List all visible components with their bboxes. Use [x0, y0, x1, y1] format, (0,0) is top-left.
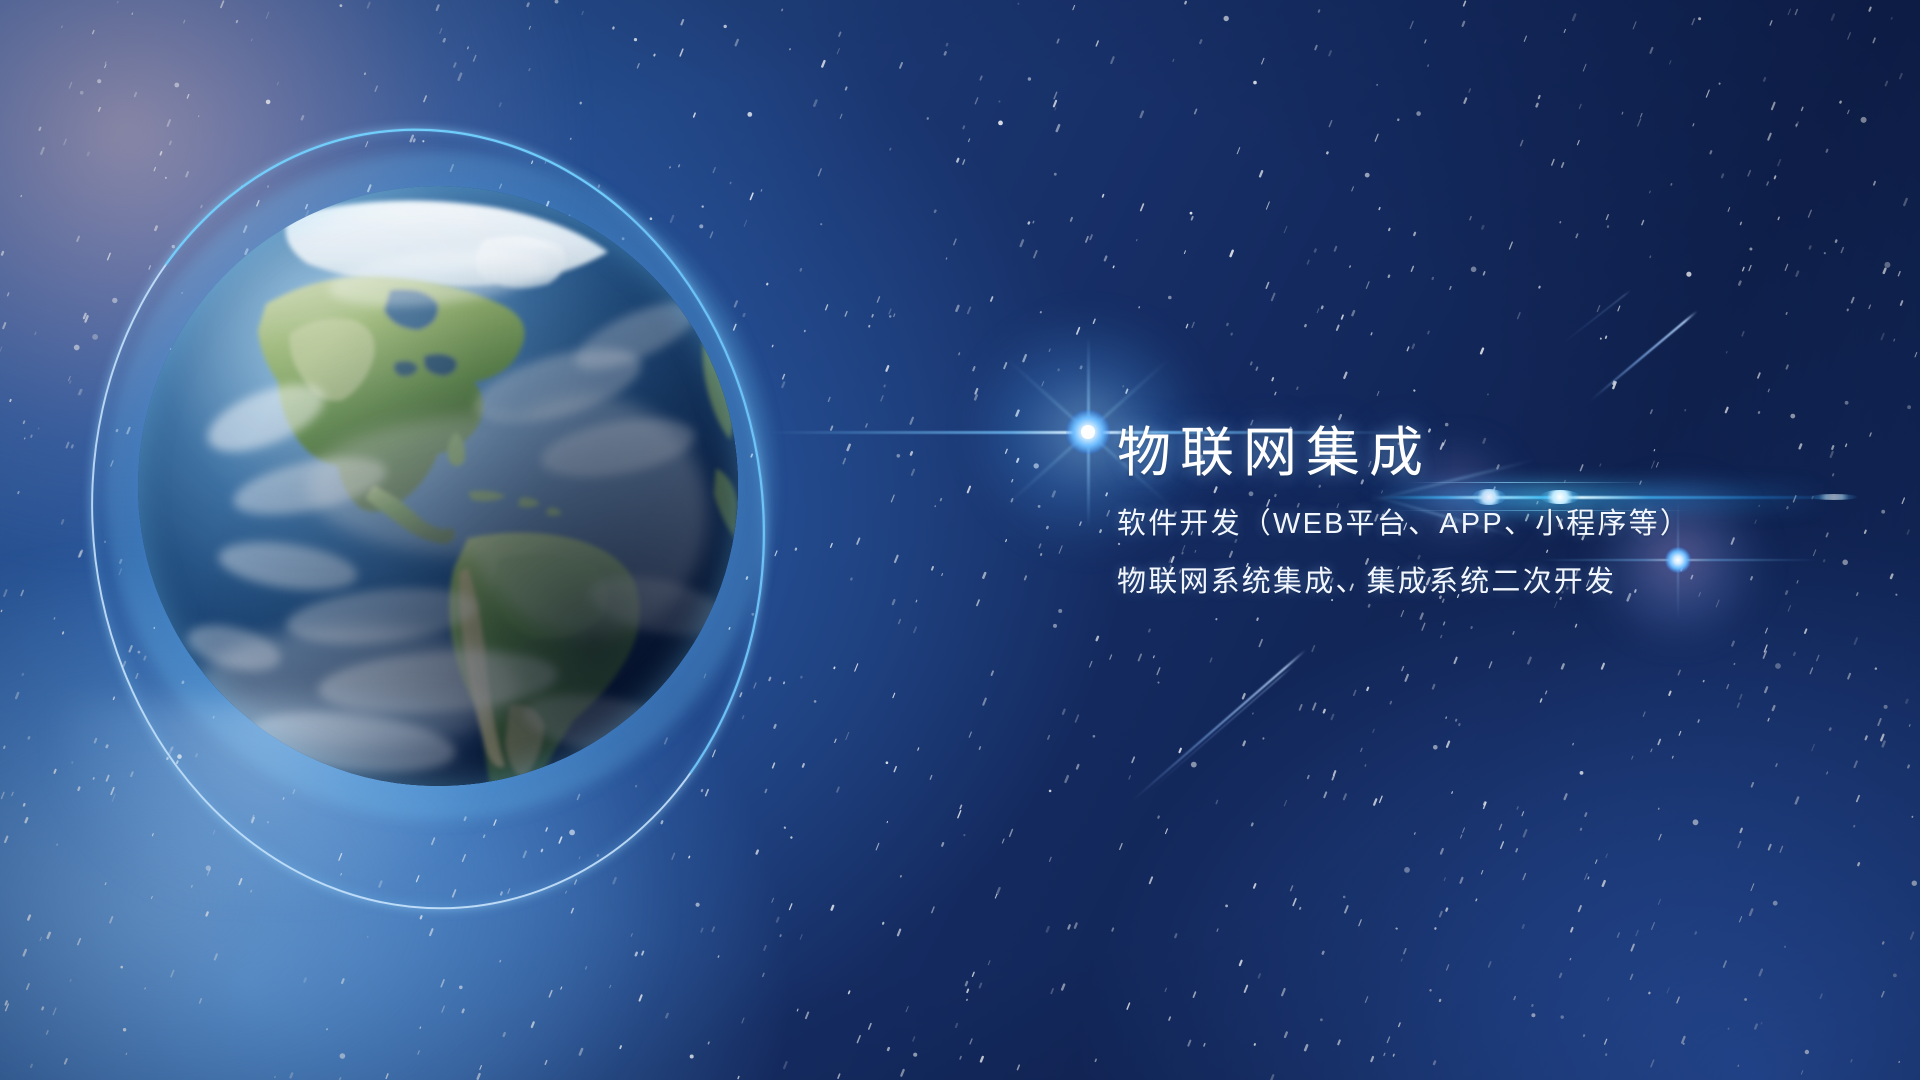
banner-subtitle-list: 软件开发（WEB平台、APP、小程序等） 物联网系统集成、集成系统二次开发 [1117, 510, 1877, 597]
iot-integration-banner: 物联网集成 软件开发（WEB平台、APP、小程序等） 物联网系统集成、集成系统二… [0, 0, 1920, 1080]
banner-text-block: 物联网集成 软件开发（WEB平台、APP、小程序等） 物联网系统集成、集成系统二… [1117, 424, 1877, 597]
banner-subtitle-line-1: 软件开发（WEB平台、APP、小程序等） [1117, 510, 1877, 539]
earth-sphere [138, 186, 738, 786]
banner-subtitle-line-2: 物联网系统集成、集成系统二次开发 [1117, 568, 1877, 597]
globe-reflection [60, 700, 480, 900]
earth-rim-light [138, 186, 738, 786]
earth-globe [138, 186, 738, 786]
page-title: 物联网集成 [1117, 424, 1877, 482]
